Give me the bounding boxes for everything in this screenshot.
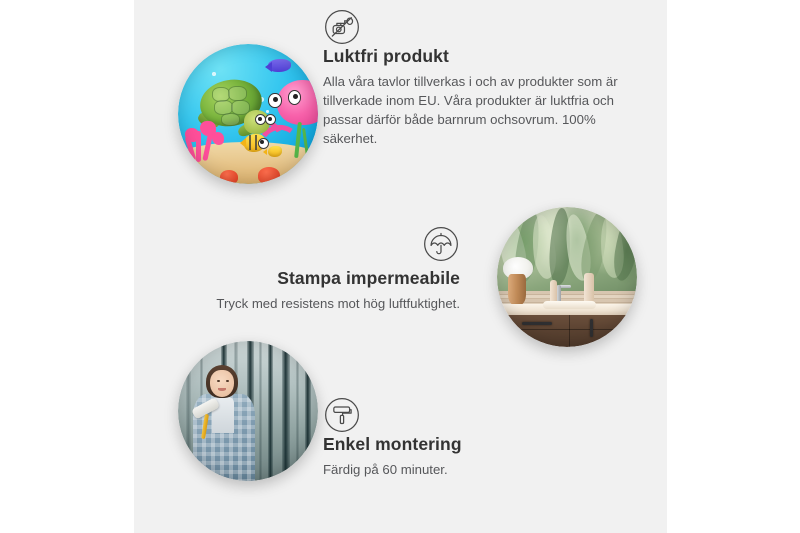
feature-photo-underwater-scene xyxy=(178,44,318,184)
paint-roller-icon xyxy=(323,396,361,434)
no-odour-spray-bottle-icon xyxy=(323,8,361,46)
feature-body: Alla våra tavlor tillverkas i och av pro… xyxy=(323,72,623,149)
feature-heading: Stampa impermeabile xyxy=(194,268,460,290)
infographic-canvas: Luktfri produkt Alla våra tavlor tillver… xyxy=(0,0,800,533)
feature-photo-woman-forest-wallpaper xyxy=(178,341,318,481)
feature-heading: Luktfri produkt xyxy=(323,46,623,68)
feature-text-waterproof-print: Stampa impermeabile Tryck med resistens … xyxy=(194,225,460,313)
umbrella-icon xyxy=(422,225,460,263)
feature-body: Tryck med resistens mot hög luftfuktighe… xyxy=(194,294,460,313)
feature-text-easy-assembly: Enkel montering Färdig på 60 minuter. xyxy=(323,396,593,479)
feature-body: Färdig på 60 minuter. xyxy=(323,460,593,479)
feature-text-odour-free: Luktfri produkt Alla våra tavlor tillver… xyxy=(323,8,623,148)
feature-photo-bathroom-vanity xyxy=(497,207,637,347)
content-panel: Luktfri produkt Alla våra tavlor tillver… xyxy=(134,0,667,533)
feature-heading: Enkel montering xyxy=(323,434,593,456)
